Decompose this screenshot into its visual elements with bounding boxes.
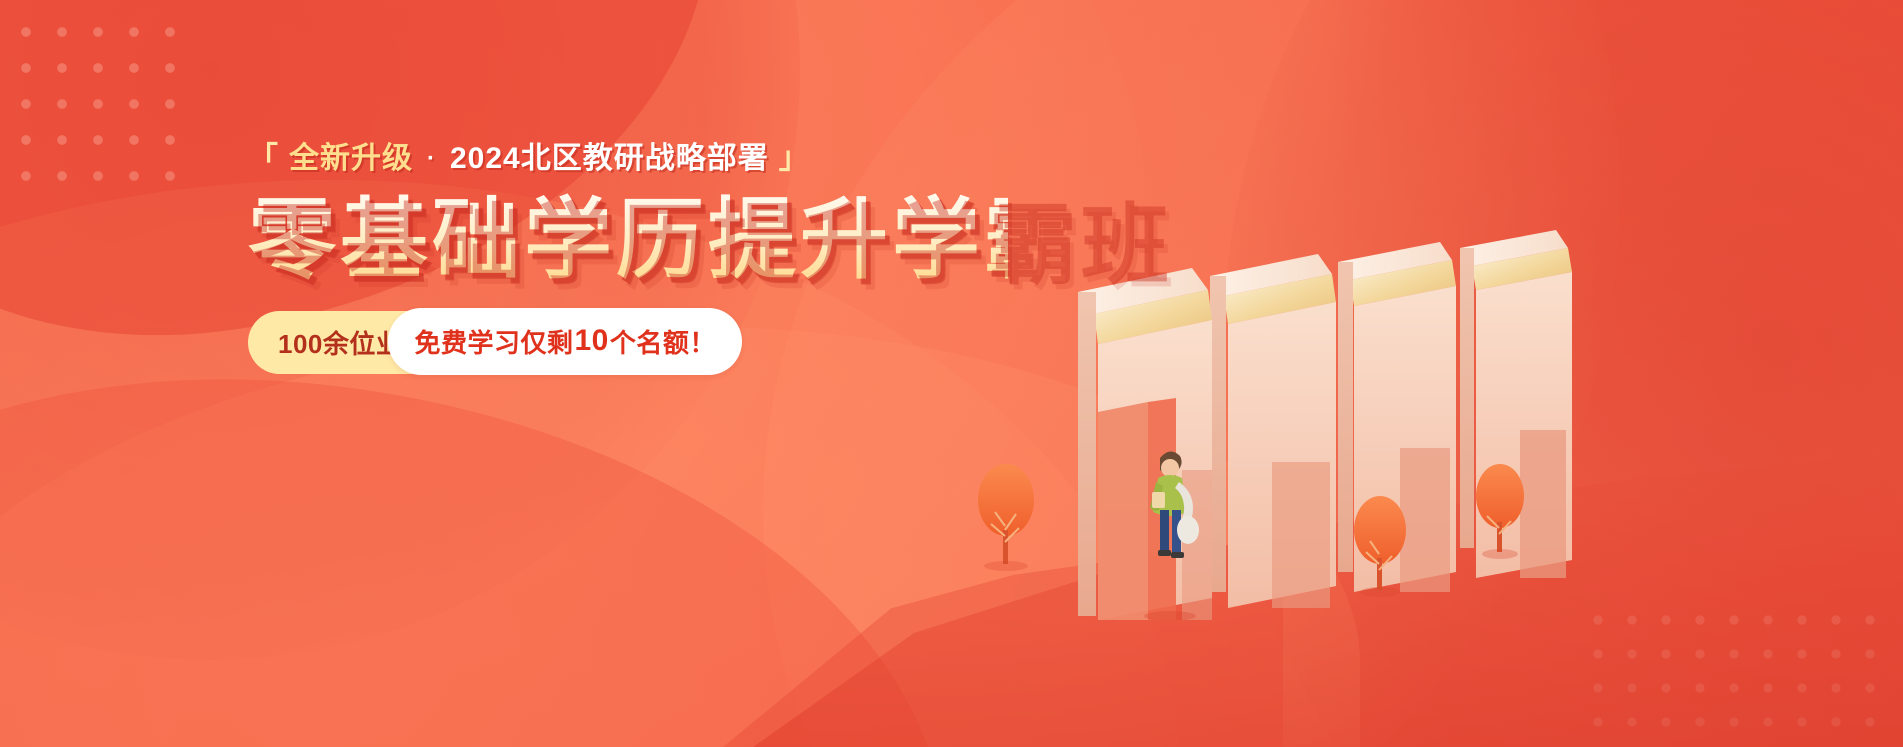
bracket-close-icon: 」 <box>779 140 810 178</box>
subtitle-separator-icon: · <box>423 144 440 174</box>
book-arch-1 <box>1078 268 1212 620</box>
badge-quota-number: 10 <box>574 324 610 358</box>
badge-quota-suffix: 个名额！ <box>610 323 716 360</box>
badge-row: 100余位业内强师全程面授 免费学习仅剩10个名额！ <box>248 311 716 374</box>
badge-quota: 免费学习仅剩10个名额！ <box>388 308 741 375</box>
subtitle-gold-text: 全新升级 <box>289 140 413 178</box>
tree-left <box>978 464 1034 571</box>
subtitle-white-text: 2024北区教研战略部署 <box>450 140 769 178</box>
banner-subtitle: 「 全新升级 · 2024北区教研战略部署 」 <box>248 140 1008 178</box>
bracket-open-icon: 「 <box>248 140 279 178</box>
book-arch-4 <box>1460 230 1572 578</box>
promo-banner: 「 全新升级 · 2024北区教研战略部署 」 零基础学历提升学霸班 100余位… <box>0 0 1903 747</box>
badge-quota-prefix: 免费学习仅剩 <box>414 323 573 360</box>
page-title: 零基础学历提升学霸班 <box>248 192 1008 287</box>
book-arch-2 <box>1210 254 1336 608</box>
dot-pattern-top-left <box>0 8 182 193</box>
banner-text-block: 「 全新升级 · 2024北区教研战略部署 」 零基础学历提升学霸班 100余位… <box>248 140 1008 374</box>
